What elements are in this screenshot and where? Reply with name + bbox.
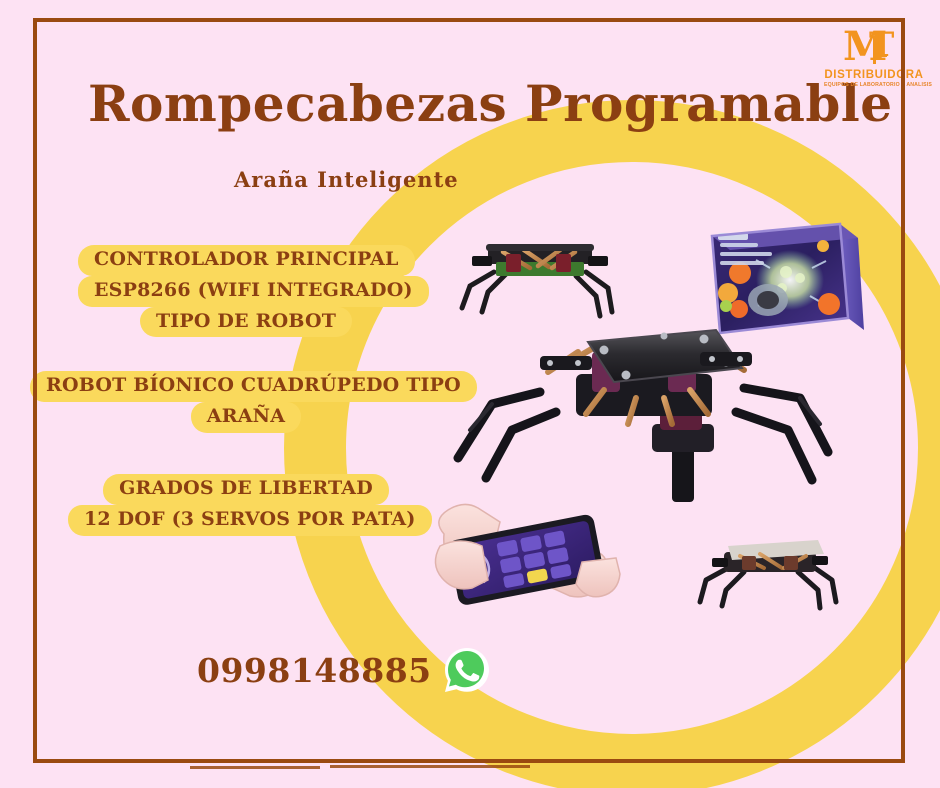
frame-nick-bottom-2 (330, 765, 530, 768)
callout-line: GRADOS DE LIBERTAD (103, 474, 389, 505)
poster-canvas: M T DISTRIBUIDORA EQUIPOS DE LABORATORIO… (0, 0, 940, 788)
callout-controlador: CONTROLADOR PRINCIPAL ESP8266 (WIFI INTE… (78, 245, 414, 337)
callout-grados-libertad: GRADOS DE LIBERTAD 12 DOF (3 SERVOS POR … (68, 474, 424, 536)
callout-line: CONTROLADOR PRINCIPAL (78, 245, 415, 276)
svg-text:T: T (869, 25, 894, 65)
callout-line: ROBOT BÍONICO CUADRÚPEDO TIPO (30, 371, 477, 402)
contact-row[interactable]: 0998148885 (197, 646, 491, 694)
frame-nick-bottom (190, 766, 320, 769)
whatsapp-icon[interactable] (443, 646, 491, 694)
frame-nick-top (250, 19, 370, 22)
logo-company-name: DISTRIBUIDORA (824, 69, 924, 81)
callout-line: ARAÑA (191, 402, 301, 433)
callout-line: TIPO DE ROBOT (140, 307, 352, 338)
phone-number[interactable]: 0998148885 (197, 651, 432, 690)
callout-line: 12 DOF (3 SERVOS POR PATA) (68, 505, 432, 536)
mt-monogram-icon: M T (843, 24, 905, 68)
logo-tagline: EQUIPOS DE LABORATORIO Y ANALISIS (824, 82, 924, 88)
brand-logo: M T DISTRIBUIDORA EQUIPOS DE LABORATORIO… (824, 24, 924, 88)
callout-tipo-robot: ROBOT BÍONICO CUADRÚPEDO TIPO ARAÑA (30, 371, 462, 433)
callout-line: ESP8266 (WIFI INTEGRADO) (78, 276, 429, 307)
